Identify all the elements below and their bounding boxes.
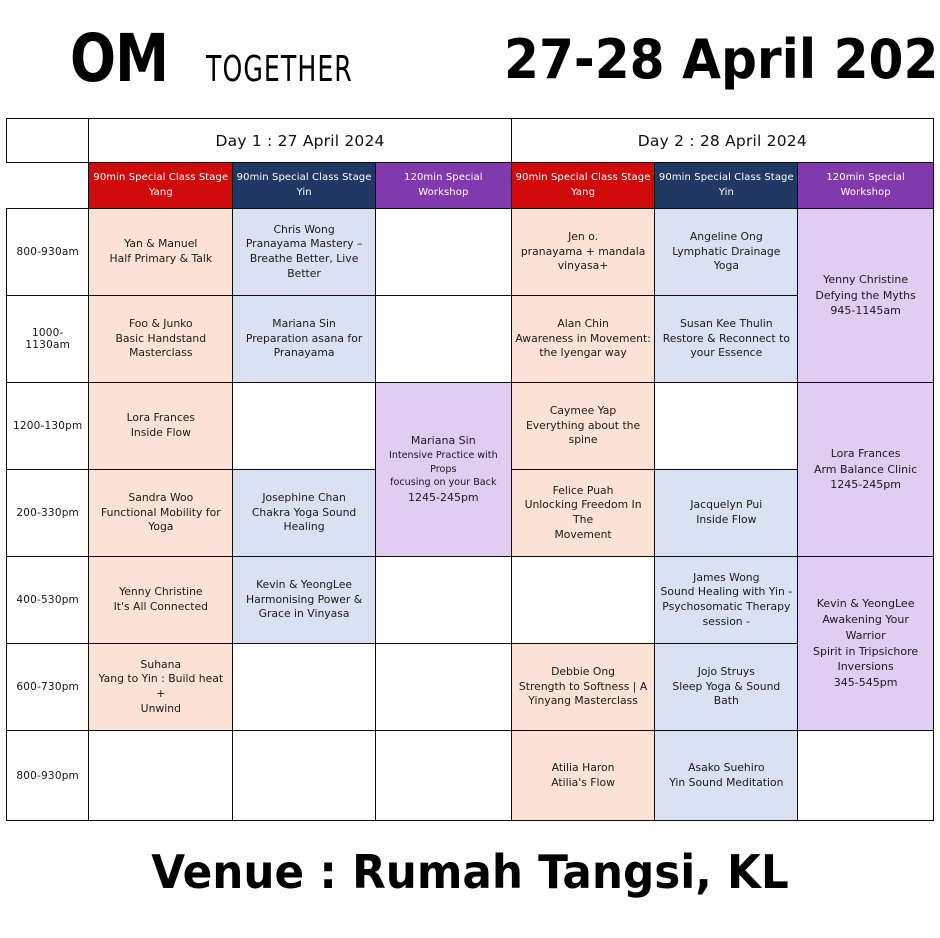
session-title: Intensive Practice with Props xyxy=(379,449,508,477)
schedule-container: Day 1 : 27 April 2024 Day 2 : 28 April 2… xyxy=(0,118,940,821)
session-title: Strength to Softness | A xyxy=(515,680,652,695)
session-teacher: Foo & Junko xyxy=(92,317,229,332)
session-teacher: Mariana Sin xyxy=(236,317,372,332)
event-dates: 27-28 April 2024 xyxy=(504,28,940,91)
session-title-cont: your Essence xyxy=(658,346,794,361)
empty-session-cell xyxy=(375,731,511,821)
session-teacher: Sandra Woo xyxy=(92,491,229,506)
track-duration-label: 90min Special Class xyxy=(93,172,195,183)
table-row: 600-730pm Suhana Yang to Yin : Build hea… xyxy=(7,644,934,731)
session-title: Restore & Reconnect to xyxy=(658,332,794,347)
corner-cell xyxy=(7,119,89,163)
session-teacher: Felice Puah xyxy=(515,484,652,499)
session-title-cont: Grace in Vinyasa xyxy=(236,607,372,622)
session-teacher: Susan Kee Thulin xyxy=(658,317,794,332)
session-title: Inside Flow xyxy=(92,426,229,441)
brand-om-text: OM xyxy=(70,26,168,92)
track-header-d1-yang: 90min Special Class Stage Yang xyxy=(89,163,233,209)
day-header-row: Day 1 : 27 April 2024 Day 2 : 28 April 2… xyxy=(7,119,934,163)
schedule-table: Day 1 : 27 April 2024 Day 2 : 28 April 2… xyxy=(6,118,934,821)
session-cell[interactable]: Atilia Haron Atilia's Flow xyxy=(511,731,655,821)
session-title: It's All Connected xyxy=(92,600,229,615)
empty-session-cell xyxy=(655,383,798,470)
session-teacher: Jen o. xyxy=(515,230,652,245)
session-cell[interactable]: Caymee Yap Everything about the spine xyxy=(511,383,655,470)
session-title-cont: Pranayama xyxy=(236,346,372,361)
time-slot-label: 200-330pm xyxy=(7,470,89,557)
session-cell[interactable]: Alan Chin Awareness in Movement: the Iye… xyxy=(511,296,655,383)
session-cell[interactable]: Yan & Manuel Half Primary & Talk xyxy=(89,209,233,296)
session-title: Yang to Yin : Build heat + xyxy=(92,672,229,701)
track-duration-label: 90min Special Class xyxy=(516,172,618,183)
session-title: Harmonising Power & xyxy=(236,593,372,608)
session-title: Arm Balance Clinic xyxy=(801,462,930,478)
workshop-cell[interactable]: Yenny Christine Defying the Myths 945-11… xyxy=(798,209,934,383)
session-title: Unlocking Freedom In The xyxy=(515,498,652,527)
track-header-d1-yin: 90min Special Class Stage Yin xyxy=(233,163,376,209)
session-title: pranayama + mandala xyxy=(515,245,652,260)
session-title: Half Primary & Talk xyxy=(92,252,229,267)
session-teacher: Debbie Ong xyxy=(515,665,652,680)
session-teacher: Jojo Struys xyxy=(658,665,794,680)
track-duration-label: 120min Special Workshop xyxy=(404,172,483,198)
session-teacher: Lora Frances xyxy=(92,411,229,426)
session-title: Atilia's Flow xyxy=(515,776,652,791)
time-slot-label: 400-530pm xyxy=(7,557,89,644)
session-cell[interactable]: Felice Puah Unlocking Freedom In The Mov… xyxy=(511,470,655,557)
time-slot-label: 800-930pm xyxy=(7,731,89,821)
session-cell[interactable]: Jacquelyn Pui Inside Flow xyxy=(655,470,798,557)
session-title: Functional Mobility for Yoga xyxy=(92,506,229,535)
venue-label: Venue : Rumah Tangsi, KL xyxy=(24,845,917,899)
session-time: 345-545pm xyxy=(801,675,930,691)
session-cell[interactable]: Sandra Woo Functional Mobility for Yoga xyxy=(89,470,233,557)
session-teacher: Chris Wong xyxy=(236,223,372,238)
session-teacher: Kevin & YeongLee xyxy=(236,578,372,593)
session-time: 1245-245pm xyxy=(379,490,508,506)
track-header-d1-workshop: 120min Special Workshop xyxy=(375,163,511,209)
session-cell[interactable]: Asako Suehiro Yin Sound Meditation xyxy=(655,731,798,821)
table-row: 800-930pm Atilia Haron Atilia's Flow Asa… xyxy=(7,731,934,821)
track-duration-label: 90min Special Class xyxy=(237,172,339,183)
session-teacher: Alan Chin xyxy=(515,317,652,332)
session-teacher: Suhana xyxy=(92,658,229,673)
brand-logo: OM TOGETHER xyxy=(70,26,416,92)
session-title-cont2: session - xyxy=(658,615,794,630)
session-title: Defying the Myths xyxy=(801,288,930,304)
session-teacher: Yan & Manuel xyxy=(92,237,229,252)
table-row: 1000-1130am Foo & Junko Basic Handstand … xyxy=(7,296,934,383)
session-cell[interactable]: Jojo Struys Sleep Yoga & Sound Bath xyxy=(655,644,798,731)
table-row: 1200-130pm Lora Frances Inside Flow Mari… xyxy=(7,383,934,470)
day-2-header: Day 2 : 28 April 2024 xyxy=(511,119,933,163)
brand-together-text: TOGETHER xyxy=(206,52,353,88)
session-time: 945-1145am xyxy=(801,303,930,319)
time-slot-label: 600-730pm xyxy=(7,644,89,731)
session-cell[interactable]: Foo & Junko Basic Handstand Masterclass xyxy=(89,296,233,383)
session-title: Sleep Yoga & Sound Bath xyxy=(658,680,794,709)
session-cell[interactable]: Jen o. pranayama + mandala vinyasa+ xyxy=(511,209,655,296)
session-title-cont: Unwind xyxy=(92,702,229,717)
session-time: 1245-245pm xyxy=(801,477,930,493)
session-cell[interactable]: Suhana Yang to Yin : Build heat + Unwind xyxy=(89,644,233,731)
session-teacher: Jacquelyn Pui xyxy=(658,498,794,513)
empty-session-cell xyxy=(375,557,511,644)
session-cell[interactable]: Josephine Chan Chakra Yoga Sound Healing xyxy=(233,470,376,557)
session-title-cont2: Inversions xyxy=(801,659,930,675)
workshop-cell[interactable]: Kevin & YeongLee Awakening Your Warrior … xyxy=(798,557,934,731)
empty-session-cell xyxy=(375,296,511,383)
session-cell[interactable]: Angeline Ong Lymphatic Drainage Yoga xyxy=(655,209,798,296)
session-cell[interactable]: Chris Wong Pranayama Mastery – Breathe B… xyxy=(233,209,376,296)
time-slot-label: 1200-130pm xyxy=(7,383,89,470)
page-header: OM TOGETHER 27-28 April 2024 xyxy=(0,0,940,118)
session-title: Inside Flow xyxy=(658,513,794,528)
session-title: Everything about the spine xyxy=(515,419,652,448)
session-title-cont: Movement xyxy=(515,528,652,543)
time-slot-label: 1000-1130am xyxy=(7,296,89,383)
track-header-d2-yang: 90min Special Class Stage Yang xyxy=(511,163,655,209)
session-teacher: Josephine Chan xyxy=(236,491,372,506)
table-row: 800-930am Yan & Manuel Half Primary & Ta… xyxy=(7,209,934,296)
session-teacher: Atilia Haron xyxy=(515,761,652,776)
session-teacher: Kevin & YeongLee xyxy=(801,596,930,612)
table-row: 400-530pm Yenny Christine It's All Conne… xyxy=(7,557,934,644)
session-teacher: Yenny Christine xyxy=(801,272,930,288)
track-header-row: 90min Special Class Stage Yang 90min Spe… xyxy=(7,163,934,209)
session-title: Awakening Your Warrior xyxy=(801,612,930,644)
session-title-cont: Breathe Better, Live Better xyxy=(236,252,372,281)
empty-session-cell xyxy=(89,731,233,821)
session-cell[interactable]: Mariana Sin Preparation asana for Pranay… xyxy=(233,296,376,383)
session-teacher: Asako Suehiro xyxy=(658,761,794,776)
empty-session-cell xyxy=(233,731,376,821)
empty-session-cell xyxy=(375,644,511,731)
session-title: Sound Healing with Yin - xyxy=(658,585,794,600)
session-cell[interactable]: Susan Kee Thulin Restore & Reconnect to … xyxy=(655,296,798,383)
session-teacher: James Wong xyxy=(658,571,794,586)
session-title-cont: vinyasa+ xyxy=(515,259,652,274)
session-teacher: Lora Frances xyxy=(801,446,930,462)
session-title-cont: Psychosomatic Therapy xyxy=(658,600,794,615)
session-title: Awareness in Movement: xyxy=(515,332,652,347)
session-title: Pranayama Mastery – xyxy=(236,237,372,252)
session-title-cont: focusing on your Back xyxy=(379,476,508,490)
empty-session-cell xyxy=(233,383,376,470)
session-title-cont: the Iyengar way xyxy=(515,346,652,361)
workshop-cell[interactable]: Lora Frances Arm Balance Clinic 1245-245… xyxy=(798,383,934,557)
session-title-cont: Spirit in Tripsichore xyxy=(801,644,930,660)
session-cell[interactable]: Lora Frances Inside Flow xyxy=(89,383,233,470)
session-title: Yin Sound Meditation xyxy=(658,776,794,791)
corner-cell-2 xyxy=(7,163,89,209)
empty-session-cell xyxy=(233,644,376,731)
session-title-cont: Yinyang Masterclass xyxy=(515,694,652,709)
empty-session-cell xyxy=(798,731,934,821)
session-teacher: Mariana Sin xyxy=(379,433,508,449)
day-1-header: Day 1 : 27 April 2024 xyxy=(89,119,511,163)
session-title: Basic Handstand xyxy=(92,332,229,347)
empty-session-cell xyxy=(511,557,655,644)
track-header-d2-workshop: 120min Special Workshop xyxy=(798,163,934,209)
session-teacher: Caymee Yap xyxy=(515,404,652,419)
workshop-cell[interactable]: Mariana Sin Intensive Practice with Prop… xyxy=(375,383,511,557)
session-title: Chakra Yoga Sound Healing xyxy=(236,506,372,535)
session-cell[interactable]: James Wong Sound Healing with Yin - Psyc… xyxy=(655,557,798,644)
session-cell[interactable]: Debbie Ong Strength to Softness | A Yiny… xyxy=(511,644,655,731)
session-title-cont: Masterclass xyxy=(92,346,229,361)
session-cell[interactable]: Yenny Christine It's All Connected xyxy=(89,557,233,644)
track-duration-label: 120min Special Workshop xyxy=(826,172,905,198)
session-title: Preparation asana for xyxy=(236,332,372,347)
session-title: Lymphatic Drainage Yoga xyxy=(658,245,794,274)
session-teacher: Yenny Christine xyxy=(92,585,229,600)
track-duration-label: 90min Special Class xyxy=(659,172,761,183)
time-slot-label: 800-930am xyxy=(7,209,89,296)
session-teacher: Angeline Ong xyxy=(658,230,794,245)
empty-session-cell xyxy=(375,209,511,296)
track-header-d2-yin: 90min Special Class Stage Yin xyxy=(655,163,798,209)
session-cell[interactable]: Kevin & YeongLee Harmonising Power & Gra… xyxy=(233,557,376,644)
